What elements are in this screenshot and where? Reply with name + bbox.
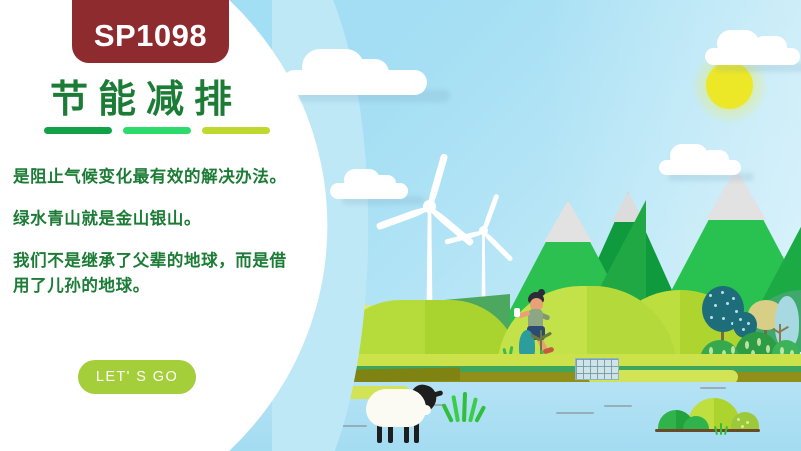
sheep-body	[366, 389, 426, 427]
sheep-snout	[421, 405, 431, 415]
bush-dot	[737, 418, 740, 421]
sheep	[366, 385, 444, 437]
turbine-blade	[482, 230, 514, 262]
cloud-above-sun	[705, 30, 800, 65]
divider-bars	[44, 127, 270, 134]
bush-dot	[741, 425, 744, 428]
tree-dot	[747, 322, 750, 325]
leaf-mark	[731, 346, 735, 354]
island-bush-right	[731, 412, 759, 430]
solar-panel	[575, 358, 619, 380]
turbine-hub	[479, 226, 488, 235]
tree-dot	[735, 310, 738, 313]
solar-panel-grid	[576, 359, 618, 379]
tree-dot	[709, 294, 712, 297]
grass-blade	[720, 423, 722, 435]
body-copy-line-3: 我们不是继承了父辈的地球，而是借用了儿孙的地球。	[13, 248, 303, 298]
tree-dot	[710, 316, 713, 319]
bush-island	[655, 398, 760, 438]
product-code-badge: SP1098	[72, 0, 229, 63]
divider-bar-2	[123, 127, 191, 134]
cloud-lobe	[753, 36, 787, 58]
cloud-left-large	[282, 46, 427, 94]
grass-blade	[462, 392, 467, 422]
tree-dot	[722, 317, 725, 320]
tree-dot	[739, 318, 742, 321]
phone-icon	[514, 308, 520, 317]
cloud-lobe	[370, 175, 396, 192]
mountain-left-snowcap	[544, 200, 592, 242]
body-copy: 是阻止气候变化最有效的解决办法。 绿水青山就是金山银山。 我们不是继承了父辈的地…	[13, 164, 303, 298]
water-ripple	[604, 405, 632, 407]
divider-bar-1	[44, 127, 112, 134]
cloud-above-peak	[659, 144, 741, 175]
leaf-mark	[757, 338, 761, 346]
cloud-lobe	[701, 150, 729, 169]
body-copy-line-1: 是阻止气候变化最有效的解决办法。	[13, 164, 303, 189]
cloud-lobe	[345, 59, 389, 87]
turbine-hub	[423, 200, 436, 213]
water-ripple	[700, 387, 726, 389]
body-copy-line-2: 绿水青山就是金山银山。	[13, 206, 303, 231]
tree-dot	[714, 304, 717, 307]
tree-dot	[726, 302, 729, 305]
tree-dot	[721, 291, 724, 294]
leaf-mark	[766, 345, 770, 353]
island-ground-line	[655, 429, 760, 432]
tree-dot	[732, 297, 735, 300]
poster-canvas: SP1098 节能减排 是阻止气候变化最有效的解决办法。 绿水青山就是金山银山。…	[0, 0, 801, 451]
cloud-left-small	[330, 168, 408, 198]
page-title: 节能减排	[50, 68, 242, 123]
lets-go-button[interactable]: LET' S GO	[78, 360, 196, 394]
tree-dot	[742, 328, 745, 331]
water-ripple	[556, 412, 594, 414]
leaf-mark	[745, 341, 749, 349]
product-code-text: SP1098	[94, 18, 207, 54]
bush-dot	[746, 421, 749, 424]
divider-bar-3	[202, 127, 270, 134]
grass-tuft	[448, 392, 482, 422]
